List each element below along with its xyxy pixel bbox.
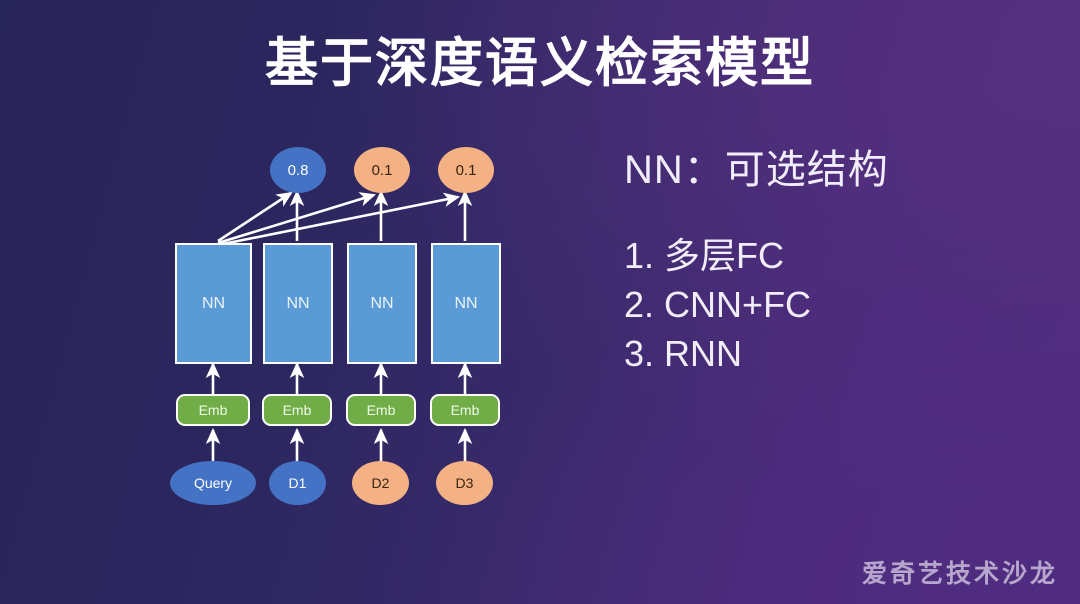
score-label: 0.1 — [456, 162, 477, 179]
nn-option-label: RNN — [664, 333, 742, 374]
input-node-label: D1 — [289, 475, 307, 491]
input-node-label: D2 — [372, 475, 390, 491]
input-node-d3: D3 — [436, 461, 493, 505]
input-node-d2: D2 — [352, 461, 409, 505]
arrow-group-query-to-scores — [218, 193, 458, 245]
nn-box-label: NN — [454, 295, 477, 313]
emb-box-label: Emb — [199, 402, 228, 418]
nn-option-label: CNN+FC — [664, 284, 811, 325]
score-label: 0.8 — [288, 162, 309, 179]
input-node-query: Query — [170, 461, 256, 505]
nn-box-1: NN — [263, 243, 333, 364]
nn-option-number: 1. — [624, 235, 654, 276]
nn-option-label: 多层FC — [664, 235, 784, 276]
nn-option-item: 1. 多层FC — [624, 232, 1044, 281]
nn-box-label: NN — [286, 295, 309, 313]
input-node-d1: D1 — [269, 461, 326, 505]
nn-options-list: 1. 多层FC 2. CNN+FC 3. RNN — [624, 232, 1044, 379]
emb-box-label: Emb — [367, 402, 396, 418]
nn-structure-heading: NN：可选结构 — [624, 146, 1044, 194]
input-node-label: D3 — [456, 475, 474, 491]
slide-canvas: 基于深度语义检索模型 — [0, 0, 1080, 604]
nn-box-2: NN — [347, 243, 417, 364]
emb-box-label: Emb — [283, 402, 312, 418]
emb-box-3: Emb — [430, 394, 500, 426]
score-node-0: 0.8 — [270, 147, 326, 193]
arrow-group-emb-to-nn — [213, 364, 465, 394]
score-node-2: 0.1 — [438, 147, 494, 193]
nn-box-label: NN — [370, 295, 393, 313]
nn-option-item: 2. CNN+FC — [624, 281, 1044, 330]
right-text-panel: NN：可选结构 1. 多层FC 2. CNN+FC 3. RNN — [624, 146, 1044, 379]
emb-box-0: Emb — [176, 394, 250, 426]
nn-box-label: NN — [202, 295, 225, 313]
arrow-group-input-to-emb — [213, 430, 465, 462]
watermark: 爱奇艺技术沙龙 — [862, 554, 1058, 590]
nn-option-number: 3. — [624, 333, 654, 374]
nn-option-item: 3. RNN — [624, 330, 1044, 379]
emb-box-1: Emb — [262, 394, 332, 426]
score-label: 0.1 — [372, 162, 393, 179]
emb-box-label: Emb — [451, 402, 480, 418]
nn-option-number: 2. — [624, 284, 654, 325]
nn-box-3: NN — [431, 243, 501, 364]
nn-box-0: NN — [175, 243, 252, 364]
input-node-label: Query — [194, 475, 232, 491]
emb-box-2: Emb — [346, 394, 416, 426]
score-node-1: 0.1 — [354, 147, 410, 193]
